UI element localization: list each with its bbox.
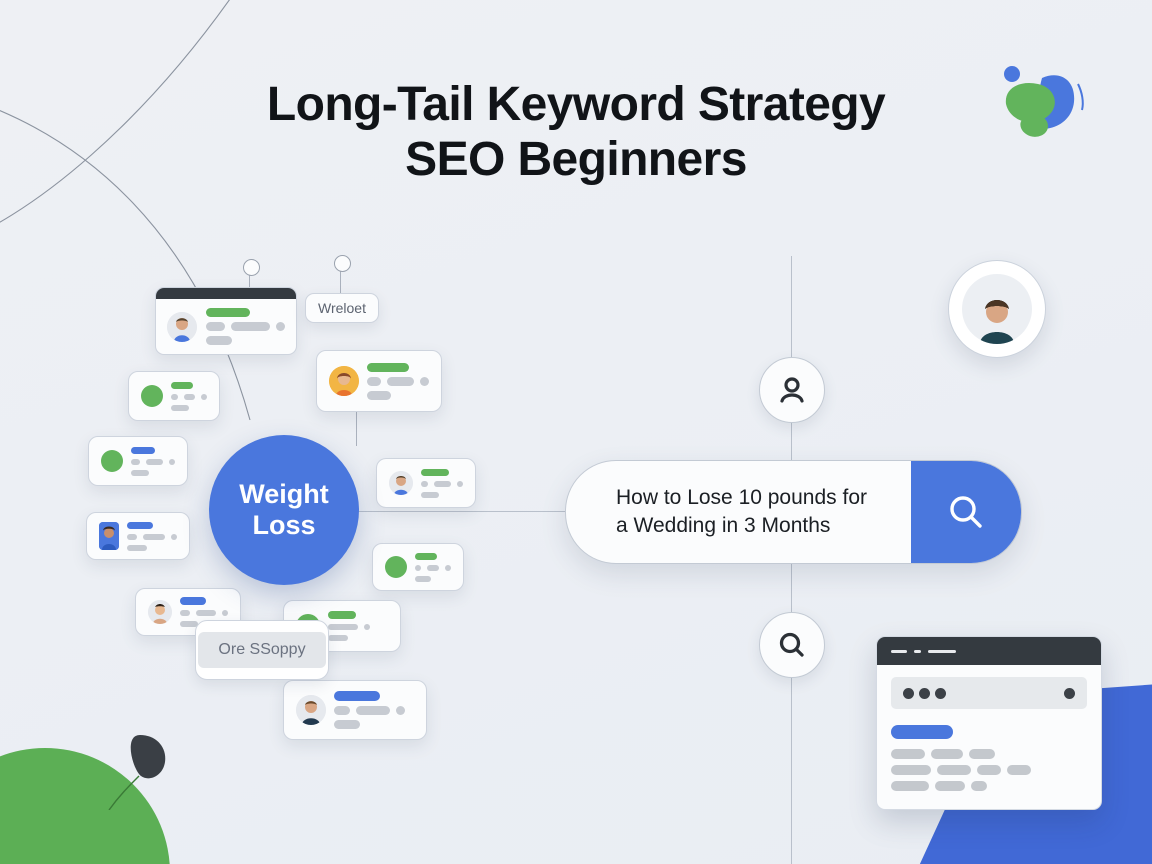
text-bar [434,481,451,487]
text-bar [334,706,350,715]
status-dot [171,534,177,540]
text-bar [328,635,348,641]
man-avatar [974,292,1020,344]
text-bar [206,322,225,331]
mindmap-center-node[interactable]: Weight Loss [209,435,359,585]
text-bar [184,394,195,400]
person-avatar [148,600,172,624]
center-to-search-connector [350,511,568,512]
status-dot [276,322,285,331]
card-text-lines [328,611,388,641]
card-knob-left [243,259,260,276]
balloon-pin-decoration [95,730,185,810]
accent-bar [171,382,193,389]
keyword-chip[interactable]: Wreloet [305,293,379,323]
text-bar [427,565,439,571]
page-title: Long-Tail Keyword Strategy SEO Beginners [0,78,1152,187]
green-circle-avatar [385,556,407,578]
keyword-chip-large[interactable]: Ore SSoppy [195,620,329,680]
man-avatar [389,471,413,495]
content-text-bar [931,749,963,759]
content-text-bar [1007,765,1031,775]
accent-bar [127,522,153,529]
keyword-chip-large-label: Ore SSoppy [198,632,325,668]
green-circle-avatar [101,450,123,472]
card-knob-right [334,255,351,272]
man-avatar [296,695,326,725]
woman-photo-avatar [99,522,119,550]
list-item[interactable] [88,436,188,486]
toolbar-dots [903,688,946,699]
search-icon [945,491,987,533]
card-stem-mid [356,410,357,446]
accent-bar [421,469,449,476]
status-dot [364,624,370,630]
list-item[interactable] [128,371,220,421]
text-bar [127,545,147,551]
text-bar [131,470,149,476]
text-bar [387,377,414,386]
text-bar [206,336,232,345]
keyword-chip-label: Wreloet [318,300,366,316]
titlebar-bar [891,650,907,653]
search-query-line-1: How to Lose 10 pounds for [616,484,867,512]
green-circle-decoration [0,748,170,864]
dot-icon [919,688,930,699]
status-dot [445,565,451,571]
card-header-bar [156,288,296,299]
status-dot [420,377,429,386]
content-heading-bar [891,725,953,739]
status-dot [222,610,228,616]
title-line-2: SEO Beginners [0,133,1152,188]
content-text-bar [935,781,965,791]
text-bar [171,405,189,411]
center-node-line-2: Loss [239,510,329,541]
content-text-bar [891,781,929,791]
text-bar [415,576,431,582]
text-bar [367,391,391,400]
text-bar [421,481,428,487]
content-text-bar [977,765,1001,775]
text-bar [127,534,137,540]
card-text-lines [206,308,285,345]
search-input[interactable]: How to Lose 10 pounds for a Wedding in 3… [566,461,911,563]
dot-icon [935,688,946,699]
text-bar [231,322,270,331]
green-circle-avatar [141,385,163,407]
card-text-lines [415,553,451,582]
node-user[interactable] [759,357,825,423]
browser-window[interactable] [876,636,1102,810]
accent-bar [328,611,356,619]
search-icon [777,630,807,660]
card-body [156,299,296,354]
card-text-lines [334,691,414,729]
list-item[interactable] [86,512,190,560]
accent-bar [367,363,409,372]
content-text-bar [891,765,931,775]
card-text-lines [367,363,429,400]
status-dot [396,706,405,715]
poster-canvas: Long-Tail Keyword Strategy SEO Beginners [0,0,1152,864]
status-dot [457,481,463,487]
text-bar [367,377,381,386]
accent-bar [131,447,155,454]
title-line-1: Long-Tail Keyword Strategy [267,78,885,131]
text-bar [328,624,358,630]
text-bar [421,492,439,498]
content-text-bar [891,749,925,759]
search-button[interactable] [911,461,1021,563]
avatar-ring [962,274,1032,344]
browser-content [877,665,1101,803]
content-text-bar [969,749,995,759]
accent-bar [334,691,380,701]
status-dot [201,394,207,400]
list-item[interactable] [376,458,476,508]
text-bar [131,459,140,465]
browser-toolbar[interactable] [891,677,1087,709]
accent-bar [206,308,250,317]
list-item[interactable] [372,543,464,591]
man-avatar [167,312,197,342]
text-bar [180,610,190,616]
user-icon [777,375,807,405]
text-bar [196,610,216,616]
card-text-lines [171,382,207,411]
dot-icon [903,688,914,699]
accent-bar [180,597,206,605]
node-search[interactable] [759,612,825,678]
titlebar-bar [928,650,956,653]
woman-avatar [329,366,359,396]
text-bar [415,565,421,571]
card-text-lines [131,447,175,476]
text-bar [356,706,390,715]
content-text-bar [937,765,971,775]
center-node-line-1: Weight [239,479,329,510]
list-item[interactable] [316,350,442,412]
list-item[interactable] [155,287,297,355]
search-bar[interactable]: How to Lose 10 pounds for a Wedding in 3… [565,460,1022,564]
menu-dot-icon[interactable] [1064,688,1075,699]
accent-bar [415,553,437,560]
list-item[interactable] [283,680,427,740]
titlebar-bar [914,650,921,653]
status-dot [169,459,175,465]
profile-avatar[interactable] [948,260,1046,358]
content-text-bar [971,781,987,791]
browser-titlebar [877,637,1101,665]
text-bar [146,459,163,465]
search-query-line-2: a Wedding in 3 Months [616,512,867,540]
text-bar [334,720,360,729]
card-text-lines [421,469,463,498]
card-text-lines [127,522,177,551]
text-bar [171,394,178,400]
text-bar [143,534,165,540]
